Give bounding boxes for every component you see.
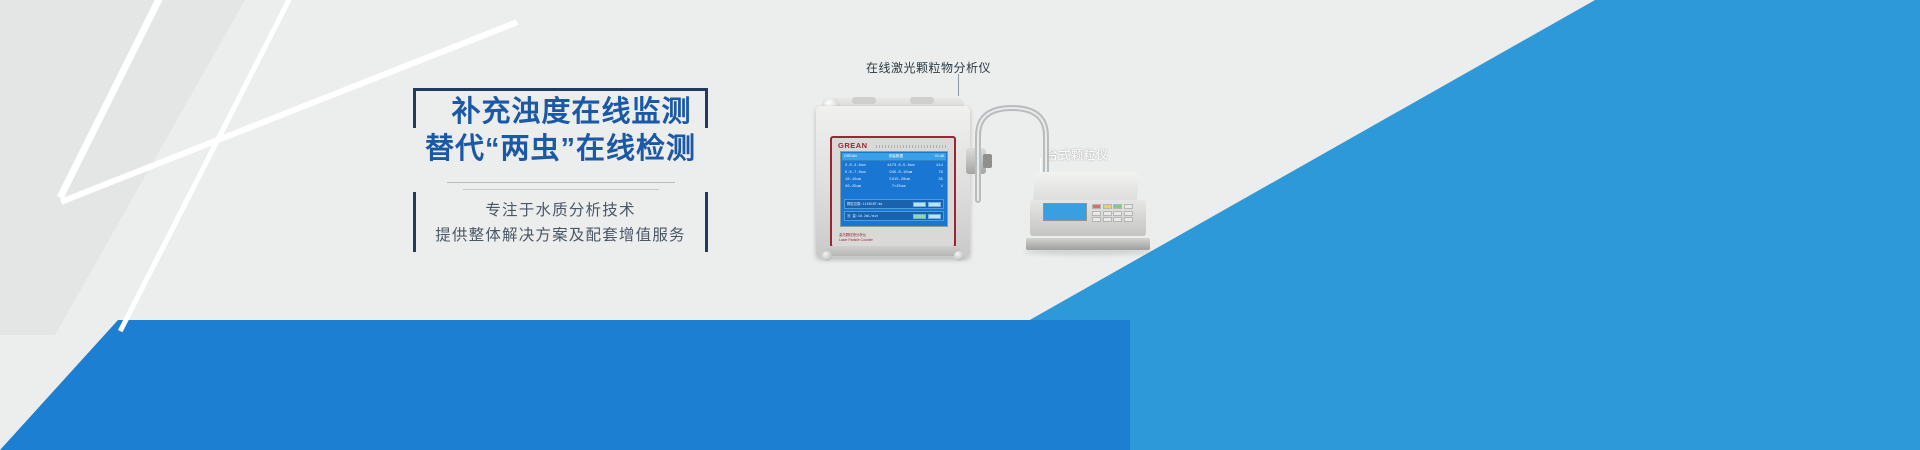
lcd-range-a: 10-15um bbox=[845, 177, 869, 184]
benchtop-key[interactable] bbox=[1113, 217, 1122, 222]
analyzer-model-label: 激光颗粒物分析仪 Laser Particle Counter bbox=[839, 233, 873, 243]
headline-block: 补充浊度在线监测 替代“两虫”在线检测 专注于水质分析技术 提供整体解决方案及配… bbox=[413, 88, 708, 252]
benchtop-key[interactable] bbox=[1124, 204, 1133, 209]
analyzer-bolt-right bbox=[954, 251, 964, 261]
divider-lower bbox=[463, 189, 659, 190]
lcd-footer-row: 颗粒总数:1166CNT/mL bbox=[844, 199, 944, 209]
lcd-value-b: 414 bbox=[918, 163, 943, 170]
analyzer-lcd-screen[interactable]: GREAN 测量数据 01:46 2.0-3.0um 447 3.0-5.0um… bbox=[840, 151, 948, 227]
lcd-data-row: 20-25um 7 >25um 1 bbox=[845, 184, 943, 191]
lcd-data-row: 2.0-3.0um 447 3.0-5.0um 414 bbox=[845, 163, 943, 170]
lcd-header-time: 01:46 bbox=[935, 154, 944, 159]
analyzer-front-panel: GREAN GREAN 测量数据 01:46 2.0-3.0um 447 3.0… bbox=[830, 136, 956, 248]
lcd-confirm-button[interactable] bbox=[913, 202, 926, 207]
lcd-value-a: 52 bbox=[869, 177, 894, 184]
lcd-value-a: 94 bbox=[869, 170, 894, 177]
lcd-range-b: 3.0-5.0um bbox=[894, 163, 918, 170]
lcd-data-row: 5.0-7.0um 94 5.0-10um 76 bbox=[845, 170, 943, 177]
benchtop-particle-counter bbox=[1030, 172, 1146, 250]
lcd-range-a: 5.0-7.0um bbox=[845, 170, 869, 177]
lcd-range-a: 20-25um bbox=[845, 184, 869, 191]
analyzer-bolt-left bbox=[822, 251, 832, 261]
analyzer-bottom-rail bbox=[826, 246, 960, 256]
benchtop-key[interactable] bbox=[1103, 204, 1112, 209]
lcd-total-count: 颗粒总数:1166CNT/mL bbox=[847, 201, 911, 207]
subtitle-line-1: 专注于水质分析技术 bbox=[413, 198, 708, 223]
benchtop-key[interactable] bbox=[1092, 204, 1101, 209]
lcd-cancel-button[interactable] bbox=[928, 202, 941, 207]
lcd-value-b: 35 bbox=[918, 177, 943, 184]
headline-line-2: 替代“两虫”在线检测 bbox=[413, 131, 708, 168]
lcd-header-brand: GREAN bbox=[844, 154, 857, 159]
benchtop-keypad[interactable] bbox=[1092, 204, 1133, 222]
lcd-footer-row: 流 量:18.2mL/min bbox=[844, 211, 944, 221]
background-blue-bottom-dark bbox=[0, 320, 1130, 450]
lcd-value-b: 1 bbox=[918, 184, 943, 191]
lcd-range-b: 15-20um bbox=[894, 177, 918, 184]
lcd-flow-rate: 流 量:18.2mL/min bbox=[847, 213, 911, 219]
benchtop-key[interactable] bbox=[1103, 217, 1112, 222]
lcd-range-b: 5.0-10um bbox=[894, 170, 918, 177]
lcd-value-a: 7 bbox=[869, 184, 894, 191]
lcd-range-a: 2.0-3.0um bbox=[845, 163, 869, 170]
bracket-top-left-horizontal bbox=[413, 88, 563, 91]
benchtop-key[interactable] bbox=[1092, 211, 1101, 216]
lcd-range-b: >25um bbox=[894, 184, 918, 191]
online-laser-particle-analyzer: GREAN GREAN 测量数据 01:46 2.0-3.0um 447 3.0… bbox=[816, 92, 970, 267]
lcd-header-title: 测量数据 bbox=[889, 154, 903, 159]
benchtop-display[interactable] bbox=[1043, 203, 1087, 221]
lcd-header: GREAN 测量数据 01:46 bbox=[842, 153, 946, 161]
lcd-data-row: 10-15um 52 15-20um 35 bbox=[845, 177, 943, 184]
analyzer-hinge-right bbox=[910, 97, 934, 104]
lcd-value-b: 76 bbox=[918, 170, 943, 177]
lcd-data-rows: 2.0-3.0um 447 3.0-5.0um 414 5.0-7.0um 94… bbox=[842, 161, 946, 193]
promo-banner: 补充浊度在线监测 替代“两虫”在线检测 专注于水质分析技术 提供整体解决方案及配… bbox=[0, 0, 1920, 450]
benchtop-key[interactable] bbox=[1092, 217, 1101, 222]
benchtop-base bbox=[1026, 238, 1150, 250]
analyzer-model-label-en: Laser Particle Counter bbox=[839, 238, 873, 243]
subtitle-text: 专注于水质分析技术 提供整体解决方案及配套增值服务 bbox=[413, 198, 708, 248]
analyzer-hinge-left bbox=[852, 97, 876, 104]
analyzer-enclosure: GREAN GREAN 测量数据 01:46 2.0-3.0um 447 3.0… bbox=[816, 106, 970, 258]
benchtop-key[interactable] bbox=[1113, 211, 1122, 216]
lcd-settings-button[interactable] bbox=[928, 214, 941, 219]
lcd-footer: 颗粒总数:1166CNT/mL 流 量:18.2mL/min bbox=[844, 199, 944, 223]
bracket-top-right-horizontal bbox=[558, 88, 708, 91]
benchtop-key[interactable] bbox=[1113, 204, 1122, 209]
benchtop-key[interactable] bbox=[1124, 217, 1133, 222]
headline-text: 补充浊度在线监测 替代“两虫”在线检测 bbox=[413, 94, 708, 168]
lcd-value-a: 447 bbox=[869, 163, 894, 170]
benchtop-key[interactable] bbox=[1124, 211, 1133, 216]
divider-upper bbox=[447, 182, 675, 183]
callout-analyzer-label: 在线激光颗粒物分析仪 bbox=[866, 59, 991, 76]
analyzer-brand-rule bbox=[876, 145, 948, 148]
analyzer-brand-logo: GREAN bbox=[838, 141, 868, 150]
lcd-start-sampling-button[interactable] bbox=[913, 214, 926, 219]
benchtop-key[interactable] bbox=[1103, 211, 1112, 216]
subtitle-line-2: 提供整体解决方案及配套增值服务 bbox=[413, 223, 708, 248]
headline-line-1: 补充浊度在线监测 bbox=[413, 94, 708, 131]
